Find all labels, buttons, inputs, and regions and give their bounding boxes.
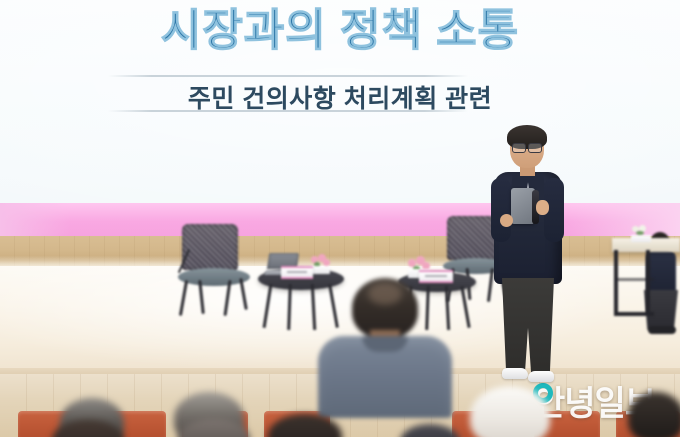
desk-stretcher: [614, 278, 654, 281]
person-shoe: [648, 326, 676, 334]
stage-chair-left: [178, 224, 252, 314]
vase: [310, 266, 330, 274]
desk-leg: [614, 250, 618, 316]
chair-leg: [179, 280, 188, 316]
right-desk: [612, 238, 680, 316]
desk-stretcher: [614, 312, 654, 316]
stage-accent-band: [0, 203, 680, 237]
name-placard-left: [281, 266, 313, 279]
divider-line-top: [108, 75, 468, 77]
accent-band-left-fade: [0, 203, 70, 237]
speaker-shoe-right: [528, 371, 554, 382]
stage-wood-wall: [0, 236, 680, 269]
speaker-hand-left: [500, 214, 513, 227]
desk-leg: [646, 250, 650, 316]
table-leg: [287, 284, 292, 330]
photo-canvas: 시장과의 정책 소통 주민 건의사항 처리계획 관련: [0, 0, 680, 437]
chair-leg: [239, 278, 248, 310]
audience-head-highlight: [368, 283, 402, 305]
flower-blossom: [323, 259, 330, 266]
presentation-title: 시장과의 정책 소통: [0, 6, 680, 57]
vase: [631, 235, 651, 242]
projection-screen: 시장과의 정책 소통 주민 건의사항 처리계획 관련: [0, 0, 680, 204]
placard-text-line: [287, 271, 307, 273]
audience-head-front: [470, 386, 550, 437]
wood-wall-highlight: [0, 236, 680, 269]
speaker-shoe-left: [502, 368, 528, 379]
speaker-trousers: [502, 278, 554, 374]
table-leg: [263, 284, 273, 328]
speaker-arm-left: [491, 178, 511, 242]
glasses-icon: [512, 143, 542, 151]
placard-text-line: [425, 275, 447, 277]
flower-vase-left: [310, 256, 330, 274]
speaker-at-center-stage: [492, 128, 566, 384]
audience-member-center: [318, 278, 452, 437]
chair-backrest: [182, 224, 238, 270]
divider-line-bottom: [108, 110, 468, 112]
audience-head-front: [628, 392, 680, 437]
table-leg: [460, 286, 470, 328]
speaker-hand-right: [536, 200, 549, 215]
table-leg: [311, 284, 316, 330]
flower-vase-desk: [631, 226, 651, 242]
